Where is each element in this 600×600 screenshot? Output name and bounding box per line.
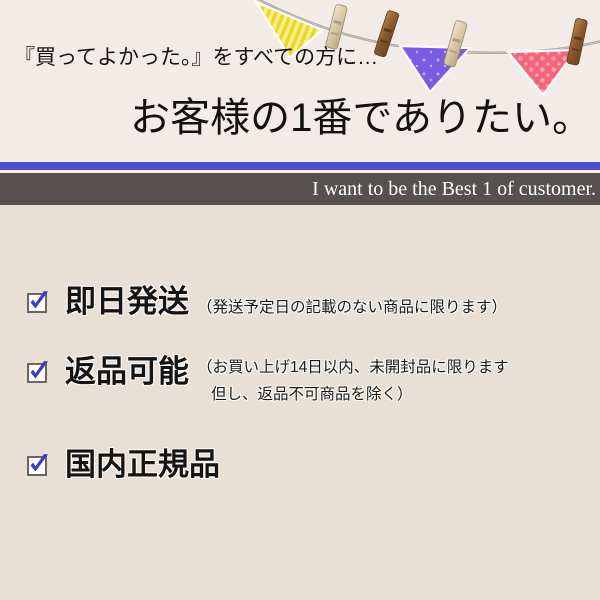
check-glyph [26,453,51,478]
page-title: お客様の1番でありたい。 [130,92,592,144]
clothespin-4 [566,18,587,65]
list-item: 即日発送 （発送予定日の記載のない商品に限ります） [26,282,507,322]
hero-banner: 『買ってよかった。』をすべての方に… お客様の1番でありたい。 [0,0,600,162]
feature-label: 国内正規品 [65,445,220,485]
feature-note-line-2: 但し、返品不可商品を除く） [197,381,509,408]
accent-stripe [0,162,600,170]
tagline-bar: I want to be the Best 1 of customer. [0,173,600,205]
feature-note: （発送予定日の記載のない商品に限ります） [197,295,507,320]
hero-subtitle: 『買ってよかった。』をすべての方に… [14,43,378,73]
check-glyph [26,290,51,315]
flag-pink [508,50,576,95]
feature-label: 即日発送 [65,282,189,322]
list-item: 返品可能 （お買い上げ14日以内、未開封品に限ります 但し、返品不可商品を除く） [26,352,509,408]
list-item: 国内正規品 [26,445,220,485]
flag-purple [400,46,470,92]
feature-list: 即日発送 （発送予定日の記載のない商品に限ります） 返品可能 （お買い上げ14日… [0,205,600,600]
check-glyph [26,360,51,385]
checkmark-icon [26,290,51,315]
feature-label: 返品可能 [65,352,189,392]
checkmark-icon [26,453,51,478]
promo-banner-page: 『買ってよかった。』をすべての方に… お客様の1番でありたい。 I want t… [0,0,600,600]
tagline-text: I want to be the Best 1 of customer. [312,177,600,201]
checkmark-icon [26,360,51,385]
clothespin-3 [443,20,467,68]
feature-note-line-1: （お買い上げ14日以内、未開封品に限ります [197,354,509,381]
feature-note: （お買い上げ14日以内、未開封品に限ります 但し、返品不可商品を除く） [197,354,509,408]
